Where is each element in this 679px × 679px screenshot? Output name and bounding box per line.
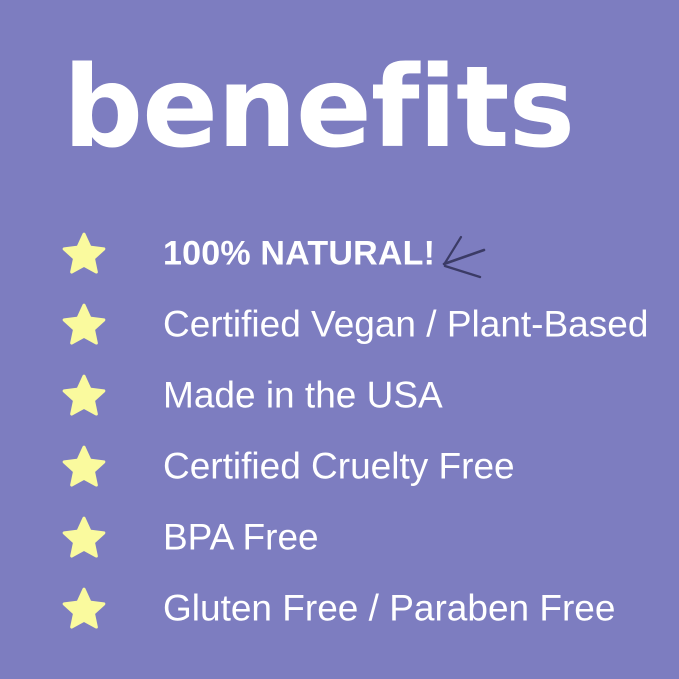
list-item-label: Made in the USA: [163, 375, 443, 416]
benefits-list: 100% NATURAL! Certified Vegan / Plant-Ba…: [0, 218, 679, 644]
list-item-label: Certified Cruelty Free: [163, 446, 515, 487]
list-item-label: BPA Free: [163, 517, 319, 558]
list-item-label: 100% NATURAL!: [163, 235, 435, 272]
benefits-poster: benefits 100% NATURAL!: [0, 0, 679, 679]
list-item: 100% NATURAL!: [0, 218, 679, 289]
star-icon: [62, 374, 106, 418]
star-icon: [62, 232, 106, 276]
page-title: benefits: [63, 52, 574, 164]
list-item-label: Certified Vegan / Plant-Based: [163, 304, 648, 345]
star-icon: [62, 516, 106, 560]
list-item: Gluten Free / Paraben Free: [0, 573, 679, 644]
list-item: BPA Free: [0, 502, 679, 573]
list-item: Certified Cruelty Free: [0, 431, 679, 502]
list-item-label: Gluten Free / Paraben Free: [163, 588, 615, 629]
star-icon: [62, 303, 106, 347]
star-icon: [62, 587, 106, 631]
star-icon: [62, 445, 106, 489]
list-item: Certified Vegan / Plant-Based: [0, 289, 679, 360]
sparkle-icon: [440, 228, 492, 280]
list-item: Made in the USA: [0, 360, 679, 431]
